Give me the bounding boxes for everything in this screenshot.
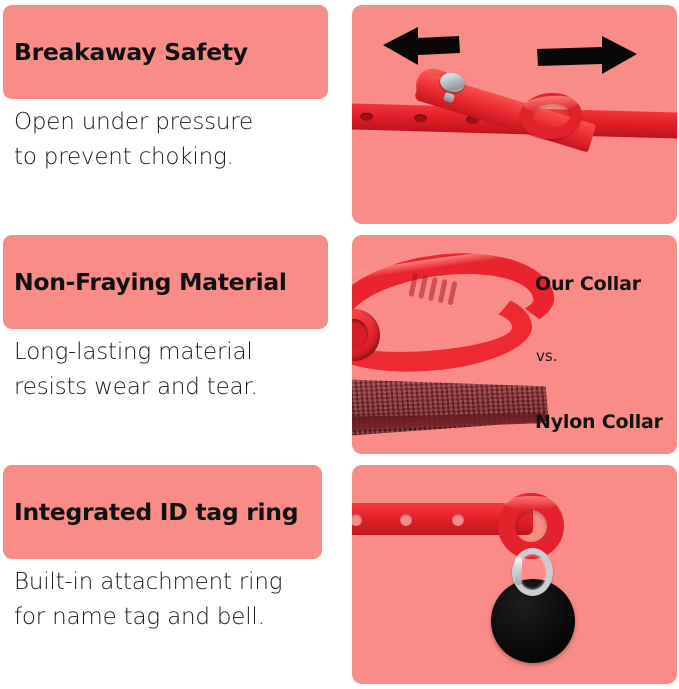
integrated-ring-highlight	[504, 496, 558, 510]
feature-heading-pill-breakaway-safety: Breakaway Safety	[3, 5, 328, 99]
comparison-label-our-collar: Our Collar	[535, 273, 641, 295]
comparison-label-nylon-collar: Nylon Collar	[535, 411, 663, 433]
adjustment-hole	[414, 114, 427, 122]
infographic-sheet: Breakaway Safety Open under pressure to …	[0, 0, 679, 689]
feature-row-breakaway-safety: Breakaway Safety Open under pressure to …	[0, 2, 679, 227]
feature-description-line-1: Open under pressure	[14, 105, 334, 140]
comparison-label-vs: vs.	[536, 347, 557, 365]
breakaway-buckle-photo	[352, 5, 677, 224]
feature-row-non-fraying-material: Non-Fraying Material Long-lasting materi…	[0, 232, 679, 457]
feature-text-integrated-id-tag-ring: Integrated ID tag ring Built-in attachme…	[3, 462, 333, 687]
feature-heading-pill-non-fraying-material: Non-Fraying Material	[3, 235, 328, 329]
feature-description-line-2: to prevent choking.	[14, 140, 334, 175]
feature-row-integrated-id-tag-ring: Integrated ID tag ring Built-in attachme…	[0, 462, 679, 687]
feature-description-line-1: Long-lasting material	[14, 335, 334, 370]
id-tag-ring-photo	[352, 465, 677, 684]
adjustment-hole	[452, 514, 464, 526]
feature-text-non-fraying-material: Non-Fraying Material Long-lasting materi…	[3, 232, 333, 457]
feature-description-breakaway-safety: Open under pressure to prevent choking.	[14, 105, 334, 175]
feature-description-line-2: resists wear and tear.	[14, 370, 334, 405]
feature-heading-pill-integrated-id-tag-ring: Integrated ID tag ring	[3, 465, 322, 559]
adjustment-hole	[400, 514, 412, 526]
feature-description-line-2: for name tag and bell.	[14, 600, 334, 635]
feature-heading-breakaway-safety: Breakaway Safety	[14, 38, 248, 66]
feature-description-integrated-id-tag-ring: Built-in attachment ring for name tag an…	[14, 565, 334, 635]
adjustment-hole	[360, 113, 373, 121]
feature-heading-integrated-id-tag-ring: Integrated ID tag ring	[14, 498, 298, 526]
material-comparison-photo: Our Collar vs. Nylon Collar	[352, 235, 677, 454]
feature-description-non-fraying-material: Long-lasting material resists wear and t…	[14, 335, 334, 405]
arrow-left-icon	[383, 27, 460, 65]
feature-text-breakaway-safety: Breakaway Safety Open under pressure to …	[3, 2, 333, 227]
split-ring-shine	[515, 557, 522, 585]
feature-heading-non-fraying-material: Non-Fraying Material	[14, 268, 287, 296]
feature-description-line-1: Built-in attachment ring	[14, 565, 334, 600]
arrow-right-icon	[537, 36, 637, 74]
